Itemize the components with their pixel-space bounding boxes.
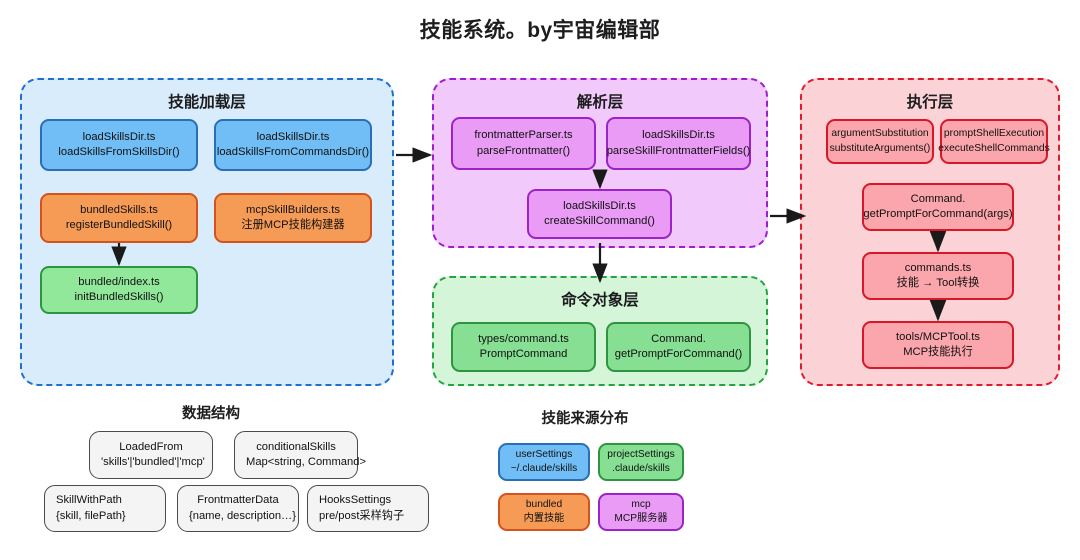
section-title-data-structures: 数据结构: [96, 402, 326, 423]
section-title-skill-sources: 技能来源分布: [470, 407, 700, 428]
node-get-prompt-for-command[interactable]: Command. getPromptForCommand(): [606, 322, 751, 372]
source-project-settings: projectSettings .claude/skills: [598, 443, 684, 481]
node-mcp-skill-builders[interactable]: mcpSkillBuilders.ts 注册MCP技能构建器: [214, 193, 372, 243]
node-line-1: loadSkillsDir.ts: [563, 199, 636, 214]
node-line-2: 注册MCP技能构建器: [241, 218, 344, 233]
node-line-1: bundled/index.ts: [78, 275, 159, 290]
node-register-bundled-skill[interactable]: bundledSkills.ts registerBundledSkill(): [40, 193, 198, 243]
ds-line-1: conditionalSkills: [246, 440, 346, 455]
panel-title-parsing: 解析层: [434, 90, 766, 112]
ds-loaded-from: LoadedFrom 'skills'|'bundled'|'mcp': [89, 431, 213, 479]
node-line-2: substituteArguments(): [830, 142, 931, 156]
node-line-2: initBundledSkills(): [75, 290, 164, 305]
panel-title-command-object: 命令对象层: [434, 288, 766, 310]
node-mcp-tool-execution[interactable]: tools/MCPTool.ts MCP技能执行: [862, 321, 1014, 369]
node-line-1: loadSkillsDir.ts: [83, 130, 156, 145]
source-line-1: projectSettings: [607, 448, 674, 462]
node-substitute-arguments[interactable]: argumentSubstitution substituteArguments…: [826, 119, 934, 164]
ds-line-2: pre/post采样钩子: [319, 509, 417, 524]
node-get-prompt-for-command-args[interactable]: Command. getPromptForCommand(args): [862, 183, 1014, 231]
node-line-2: PromptCommand: [480, 347, 568, 362]
ds-line-2: Map<string, Command>: [246, 455, 346, 470]
ds-conditional-skills: conditionalSkills Map<string, Command>: [234, 431, 358, 479]
node-line-1: loadSkillsDir.ts: [642, 128, 715, 143]
ds-line-1: HooksSettings: [319, 493, 417, 508]
ds-line-1: LoadedFrom: [101, 440, 201, 455]
page-title: 技能系统。by宇宙编辑部: [0, 14, 1080, 44]
node-line-2: parseFrontmatter(): [477, 144, 570, 159]
node-line-1: frontmatterParser.ts: [474, 128, 572, 143]
node-line-2: registerBundledSkill(): [66, 218, 172, 233]
ds-hooks-settings: HooksSettings pre/post采样钩子: [307, 485, 429, 532]
node-line-1: promptShellExecution: [944, 127, 1044, 141]
ds-line-2: {name, description…}: [189, 509, 287, 524]
node-create-skill-command[interactable]: loadSkillsDir.ts createSkillCommand(): [527, 189, 672, 239]
source-mcp: mcp MCP服务器: [598, 493, 684, 531]
node-execute-shell-commands[interactable]: promptShellExecution executeShellCommand…: [940, 119, 1048, 164]
source-user-settings: userSettings ~/.claude/skills: [498, 443, 590, 481]
source-bundled: bundled 内置技能: [498, 493, 590, 531]
node-line-2: getPromptForCommand(): [615, 347, 742, 362]
source-line-2: .claude/skills: [612, 462, 670, 476]
node-line-2: loadSkillsFromSkillsDir(): [58, 145, 179, 160]
ds-frontmatter-data: FrontmatterData {name, description…}: [177, 485, 299, 532]
node-prompt-command[interactable]: types/command.ts PromptCommand: [451, 322, 596, 372]
source-line-1: bundled: [526, 498, 562, 512]
node-line-1: Command.: [911, 192, 966, 207]
node-line-1: bundledSkills.ts: [80, 203, 158, 218]
node-parse-skill-frontmatter-fields[interactable]: loadSkillsDir.ts parseSkillFrontmatterFi…: [606, 117, 751, 170]
source-line-2: ~/.claude/skills: [511, 462, 578, 476]
diagram-canvas: 技能系统。by宇宙编辑部 技能加载层 loadSkillsDir.ts load…: [0, 0, 1080, 560]
source-line-2: 内置技能: [524, 512, 565, 526]
node-line-1: mcpSkillBuilders.ts: [246, 203, 340, 218]
source-line-1: userSettings: [516, 448, 573, 462]
ds-line-2: {skill, filePath}: [56, 509, 154, 524]
node-commands-tool-conversion[interactable]: commands.ts 技能 → Tool转换: [862, 252, 1014, 300]
ds-line-2: 'skills'|'bundled'|'mcp': [101, 455, 201, 470]
ds-skill-with-path: SkillWithPath {skill, filePath}: [44, 485, 166, 532]
node-load-skills-from-skills-dir[interactable]: loadSkillsDir.ts loadSkillsFromSkillsDir…: [40, 119, 198, 171]
panel-title-skill-loading: 技能加载层: [22, 90, 392, 112]
node-line-1: loadSkillsDir.ts: [257, 130, 330, 145]
node-line-2: executeShellCommands: [938, 142, 1050, 156]
source-line-1: mcp: [631, 498, 650, 512]
source-line-2: MCP服务器: [614, 512, 667, 526]
node-line-2: createSkillCommand(): [544, 214, 655, 229]
node-line-1: types/command.ts: [478, 332, 569, 347]
node-line-1: Command.: [651, 332, 706, 347]
node-line-2: parseSkillFrontmatterFields(): [607, 144, 751, 159]
node-line-2: 技能 → Tool转换: [897, 276, 980, 291]
panel-title-execution: 执行层: [802, 90, 1058, 112]
node-parse-frontmatter[interactable]: frontmatterParser.ts parseFrontmatter(): [451, 117, 596, 170]
node-line-1: argumentSubstitution: [831, 127, 928, 141]
node-line-1: commands.ts: [905, 261, 972, 276]
node-load-skills-from-commands-dir[interactable]: loadSkillsDir.ts loadSkillsFromCommandsD…: [214, 119, 372, 171]
node-line-2: loadSkillsFromCommandsDir(): [217, 145, 369, 160]
node-line-1: tools/MCPTool.ts: [896, 330, 980, 345]
ds-line-1: FrontmatterData: [189, 493, 287, 508]
node-line-2: MCP技能执行: [903, 345, 973, 360]
node-init-bundled-skills[interactable]: bundled/index.ts initBundledSkills(): [40, 266, 198, 314]
node-line-2: getPromptForCommand(args): [863, 207, 1012, 222]
ds-line-1: SkillWithPath: [56, 493, 154, 508]
